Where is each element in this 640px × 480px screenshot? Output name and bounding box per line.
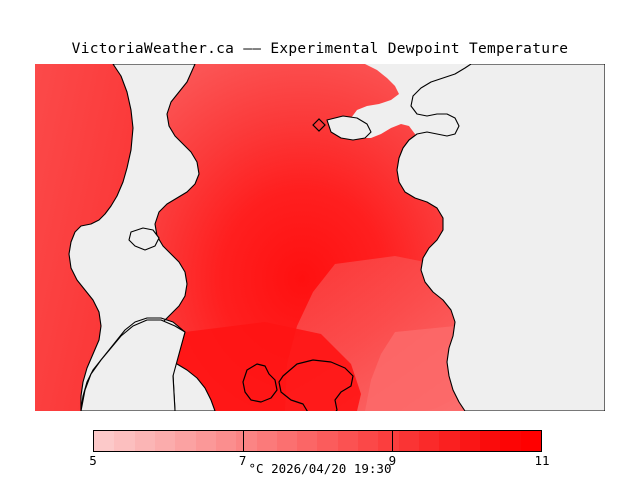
colorbar-band-6	[216, 431, 236, 451]
map-plot-area[interactable]	[35, 64, 605, 411]
colorbar-band-20	[500, 431, 520, 451]
colorbar-band-8	[257, 431, 277, 451]
colorbar-band-12	[338, 431, 358, 451]
colorbar-band-4	[175, 431, 195, 451]
page-title: VictoriaWeather.ca —— Experimental Dewpo…	[0, 41, 640, 57]
colorbar-gradient	[93, 430, 542, 452]
colorbar-band-21	[521, 431, 541, 451]
colorbar-band-9	[277, 431, 297, 451]
colorbar-band-18	[460, 431, 480, 451]
colorbar-divider-9	[392, 430, 393, 452]
dewpoint-field-svg	[35, 64, 605, 411]
colorbar-band-16	[419, 431, 439, 451]
colorbar-band-1	[114, 431, 134, 451]
colorbar-caption: °C 2026/04/20 19:30	[0, 461, 640, 476]
colorbar	[93, 430, 542, 452]
colorbar-band-3	[155, 431, 175, 451]
colorbar-band-11	[317, 431, 337, 451]
colorbar-band-17	[439, 431, 459, 451]
colorbar-band-2	[135, 431, 155, 451]
colorbar-band-5	[196, 431, 216, 451]
colorbar-band-7	[236, 431, 256, 451]
colorbar-band-13	[358, 431, 378, 451]
colorbar-band-14	[378, 431, 398, 451]
colorbar-band-15	[399, 431, 419, 451]
colorbar-band-10	[297, 431, 317, 451]
colorbar-divider-7	[243, 430, 244, 452]
colorbar-band-0	[94, 431, 114, 451]
colorbar-band-19	[480, 431, 500, 451]
weather-map-page: VictoriaWeather.ca —— Experimental Dewpo…	[0, 0, 640, 480]
